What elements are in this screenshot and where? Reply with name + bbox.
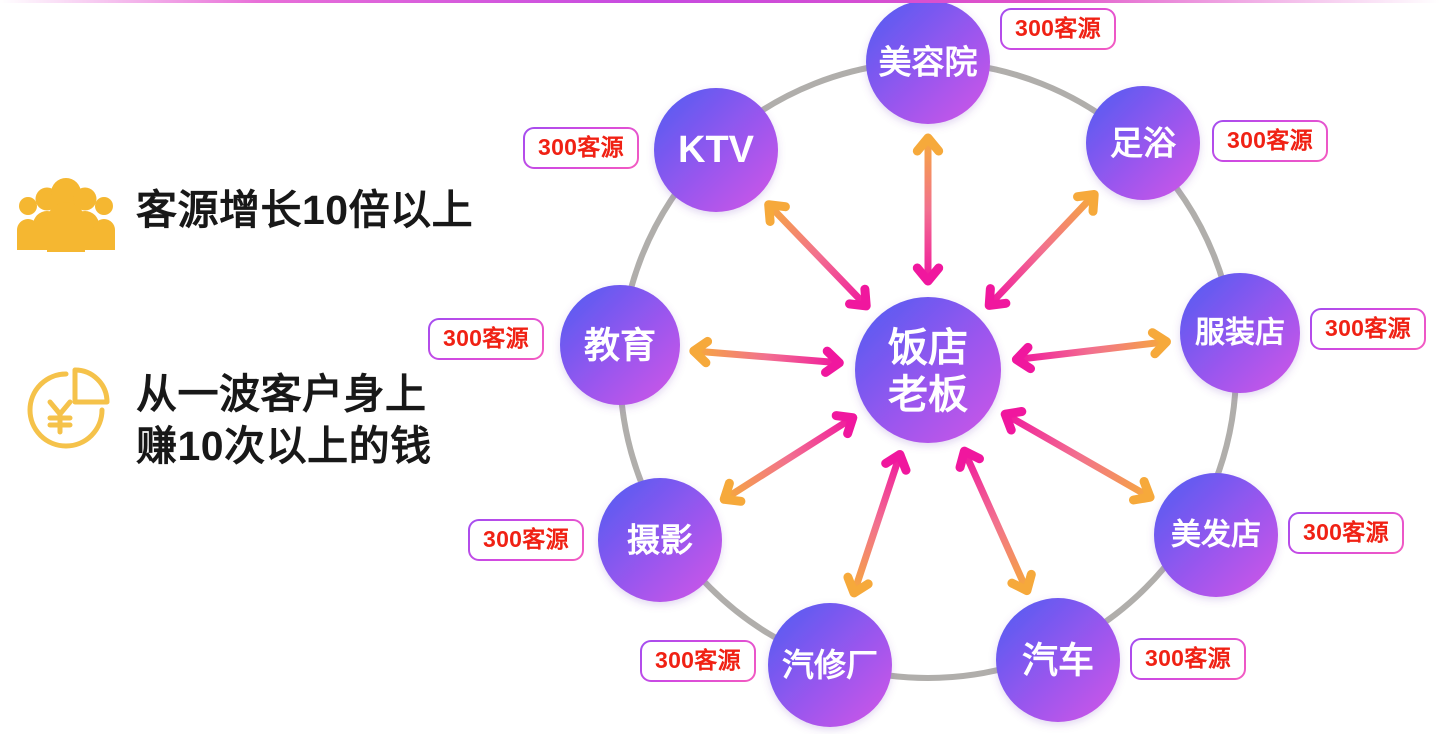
badge-clothing-shop: 300客源 xyxy=(1310,308,1426,350)
benefit-item-repeat-revenue: 从一波客户身上 赚10次以上的钱 xyxy=(14,362,554,473)
spoke-shaft xyxy=(854,454,900,592)
hub-label-line2: 老板 xyxy=(888,373,968,417)
spoke-shaft xyxy=(1016,342,1166,360)
benefit-label-customer-growth: 客源增长10倍以上 xyxy=(136,178,473,236)
node-label: 美发店 xyxy=(1171,518,1261,552)
node-ktv[interactable]: KTV xyxy=(654,88,778,212)
node-label: KTV xyxy=(678,129,755,171)
node-label: 摄影 xyxy=(627,522,693,559)
badge-hair-salon: 300客源 xyxy=(1288,512,1404,554)
top-gradient-rule xyxy=(0,0,1440,3)
spoke-foot-bath xyxy=(989,195,1094,306)
node-car[interactable]: 汽车 xyxy=(996,598,1120,722)
spoke-shaft xyxy=(724,418,853,500)
people-group-icon xyxy=(14,178,118,254)
node-education[interactable]: 教育 xyxy=(560,285,680,405)
spoke-hair-salon xyxy=(1005,412,1150,501)
spoke-beauty-salon xyxy=(917,138,938,281)
benefit-item-customer-growth: 客源增长10倍以上 xyxy=(14,178,554,254)
spoke-car xyxy=(960,451,1031,590)
spoke-shaft xyxy=(769,205,867,306)
badge-photography: 300客源 xyxy=(468,519,584,561)
benefit-label-repeat-revenue: 从一波客户身上 赚10次以上的钱 xyxy=(136,362,432,473)
node-label: 汽车 xyxy=(1022,640,1094,681)
node-clothing-shop[interactable]: 服装店 xyxy=(1180,273,1300,393)
hub-circle xyxy=(855,297,1001,443)
pie-chart-yen-icon xyxy=(14,362,118,458)
spoke-auto-repair xyxy=(848,454,906,592)
node-hair-salon[interactable]: 美发店 xyxy=(1154,473,1278,597)
node-label: 服装店 xyxy=(1195,317,1285,350)
hub-label-line1: 饭店 xyxy=(888,326,968,370)
spoke-education xyxy=(694,341,840,372)
spoke-shaft xyxy=(1005,414,1150,497)
node-label: 教育 xyxy=(584,325,656,366)
spoke-shaft xyxy=(694,351,840,363)
node-beauty-salon[interactable]: 美容院 xyxy=(866,0,990,124)
spoke-shaft xyxy=(989,195,1094,306)
spoke-shaft xyxy=(964,451,1027,590)
badge-education: 300客源 xyxy=(428,318,544,360)
badge-foot-bath: 300客源 xyxy=(1212,120,1328,162)
badge-car: 300客源 xyxy=(1130,638,1246,680)
spoke-clothing-shop xyxy=(1016,333,1166,369)
spoke-photography xyxy=(724,416,853,502)
hub-node-restaurant-owner[interactable]: 饭店 老板 xyxy=(855,297,1001,443)
node-label: 足浴 xyxy=(1110,125,1177,162)
diagram-page: 客源增长10倍以上 从一 xyxy=(0,0,1440,734)
node-photography[interactable]: 摄影 xyxy=(598,478,722,602)
node-foot-bath[interactable]: 足浴 xyxy=(1086,86,1200,200)
node-label: 美容院 xyxy=(879,44,978,81)
spoke-ktv xyxy=(769,205,867,306)
node-auto-repair[interactable]: 汽修厂 xyxy=(768,603,892,727)
badge-beauty-salon: 300客源 xyxy=(1000,8,1116,50)
node-label: 汽修厂 xyxy=(782,647,878,683)
badge-auto-repair: 300客源 xyxy=(640,640,756,682)
badge-ktv: 300客源 xyxy=(523,127,639,169)
